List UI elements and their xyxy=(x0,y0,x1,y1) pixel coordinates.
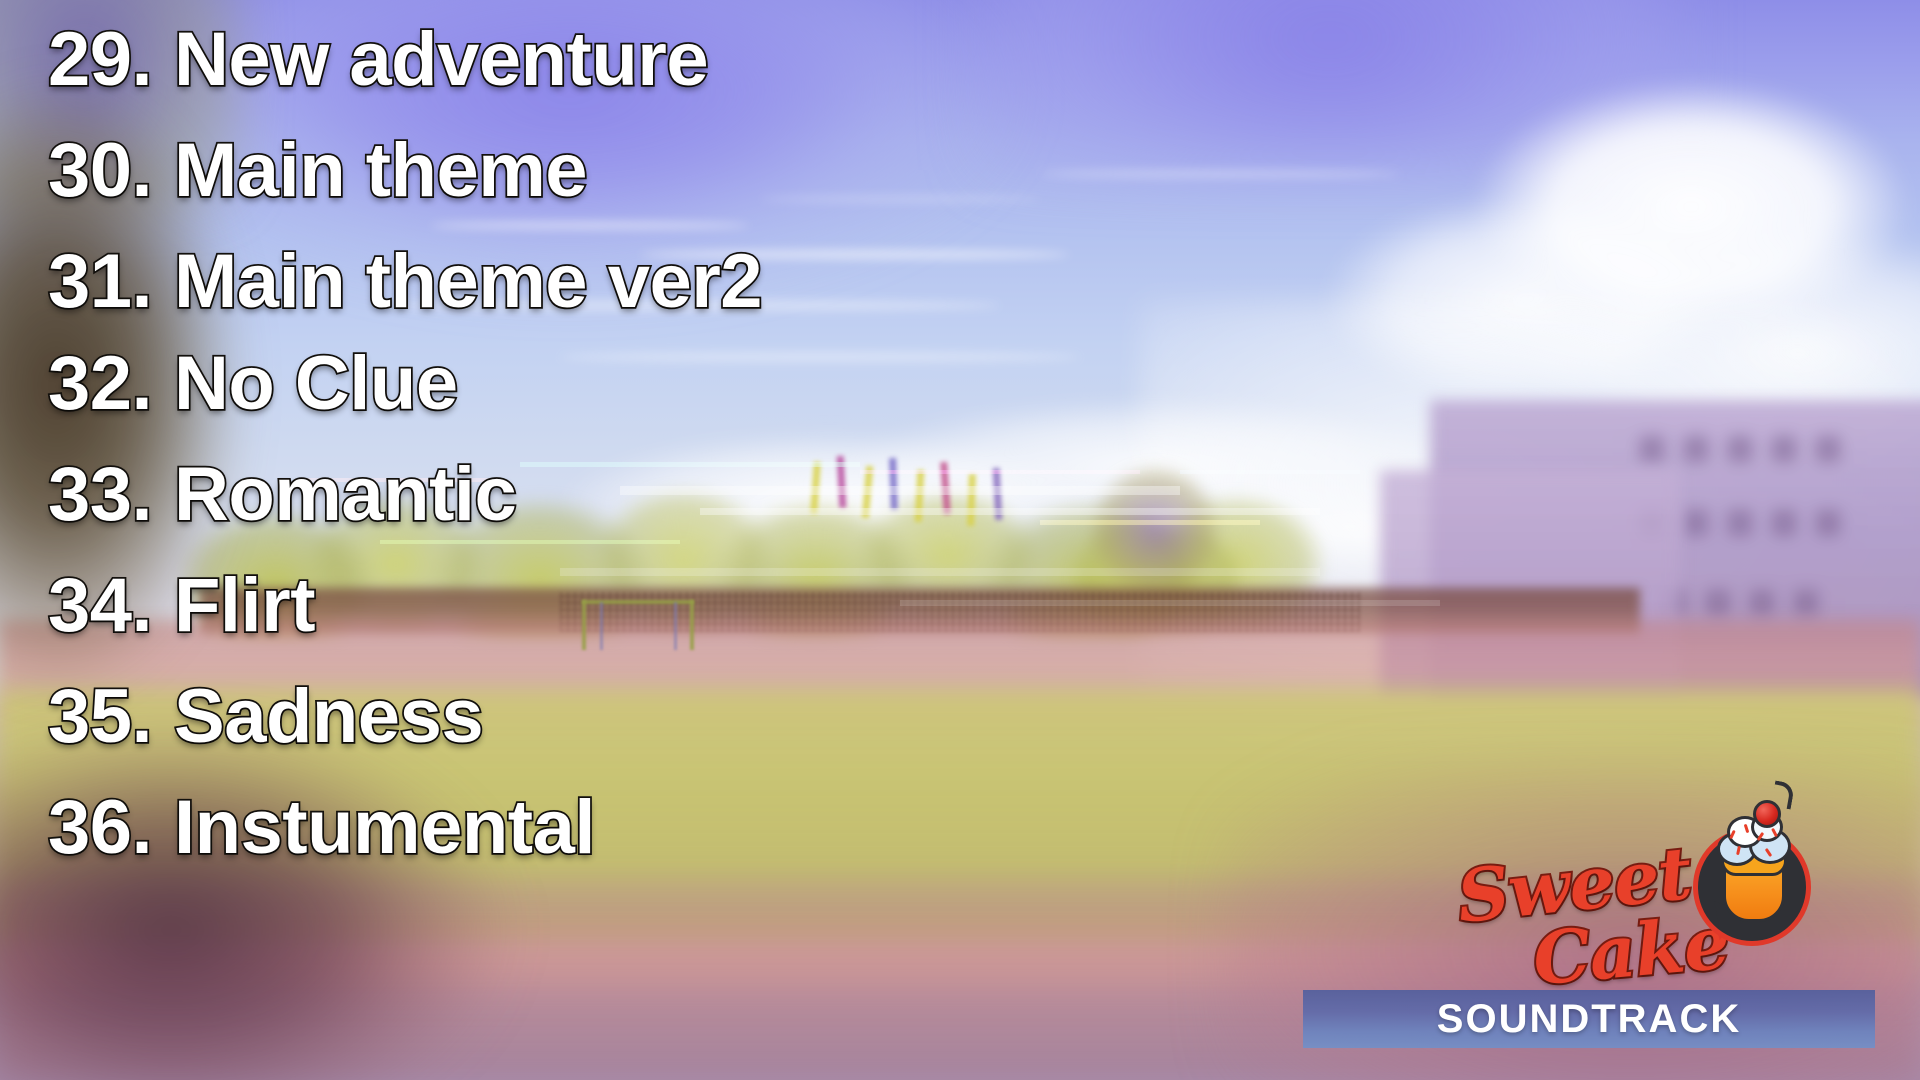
building-window xyxy=(1772,510,1796,536)
track-title: No Clue xyxy=(174,346,458,422)
soundtrack-slide: 29. New adventure 30. Main theme 31. Mai… xyxy=(0,0,1920,1080)
building-window xyxy=(1794,590,1818,616)
track-number: 35. xyxy=(48,679,174,755)
building-window xyxy=(1706,590,1730,616)
tracklist-item: 33. Romantic xyxy=(48,457,516,533)
building-window xyxy=(1728,510,1752,536)
track-number: 31. xyxy=(48,244,174,320)
track-title: New adventure xyxy=(174,22,708,98)
track-number: 30. xyxy=(48,133,174,209)
tracklist-item: 30. Main theme xyxy=(48,133,587,209)
tracklist-item: 31. Main theme ver2 xyxy=(48,244,762,320)
tracklist-item: 29. New adventure xyxy=(48,22,708,98)
cloud-streak xyxy=(760,196,1040,202)
track-title: Sadness xyxy=(174,679,483,755)
building-window xyxy=(1816,510,1840,536)
track-number: 32. xyxy=(48,346,174,422)
track-title: Instumental xyxy=(174,790,595,866)
track-title: Main theme ver2 xyxy=(174,244,762,320)
track-number: 34. xyxy=(48,568,174,644)
cupcake-graphic xyxy=(1707,806,1803,932)
cloud-streak xyxy=(430,222,750,229)
track-title: Flirt xyxy=(174,568,315,644)
soundtrack-banner: SOUNDTRACK xyxy=(1303,990,1875,1048)
soccer-goal xyxy=(582,600,694,650)
soundtrack-label: SOUNDTRACK xyxy=(1437,999,1741,1039)
cloud-streak xyxy=(560,352,1080,362)
cherry xyxy=(1753,800,1781,828)
cloud-streak xyxy=(1040,170,1400,178)
building-window xyxy=(1728,436,1752,462)
building-window xyxy=(1750,590,1774,616)
sweet-cake-logo: Sweet Cake xyxy=(1455,820,1895,1000)
building-window xyxy=(1684,436,1708,462)
building-window xyxy=(1684,510,1708,536)
tracklist-item: 36. Instumental xyxy=(48,790,595,866)
building-window xyxy=(1772,436,1796,462)
track-title: Main theme xyxy=(174,133,587,209)
track-title: Romantic xyxy=(174,457,516,533)
track-number: 29. xyxy=(48,22,174,98)
cupcake-icon xyxy=(1693,828,1811,946)
tracklist-item: 34. Flirt xyxy=(48,568,315,644)
track-number: 33. xyxy=(48,457,174,533)
tracklist-item: 32. No Clue xyxy=(48,346,458,422)
track-number: 36. xyxy=(48,790,174,866)
building-window xyxy=(1640,436,1664,462)
building-window xyxy=(1816,436,1840,462)
tracklist-item: 35. Sadness xyxy=(48,679,483,755)
